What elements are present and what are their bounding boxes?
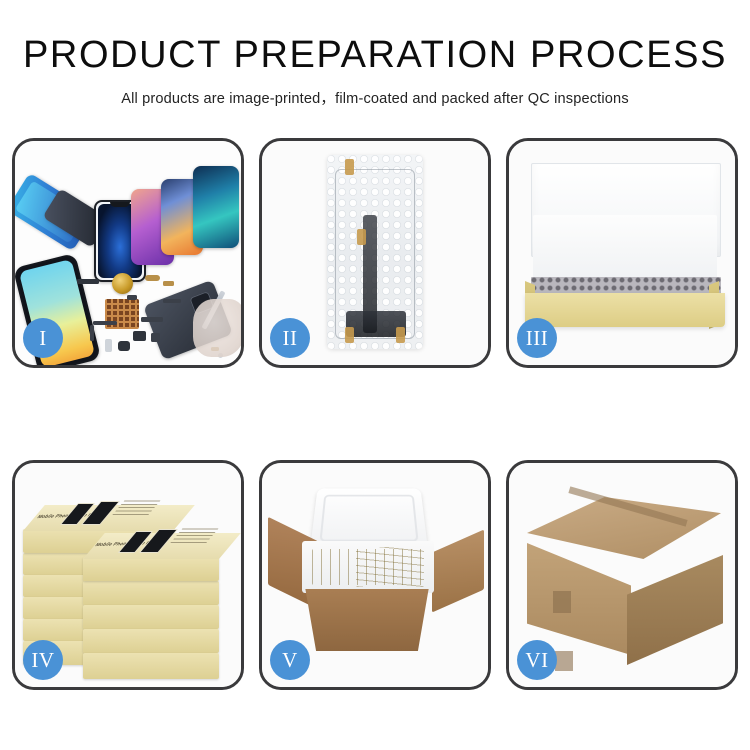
hand-icon (193, 299, 241, 357)
page-title: PRODUCT PREPARATION PROCESS (0, 36, 750, 76)
page-header: PRODUCT PREPARATION PROCESS All products… (0, 0, 750, 108)
process-step-6[interactable]: VI (506, 460, 738, 690)
tape-mark-1-icon (345, 159, 354, 175)
tape-mark-2-icon (357, 229, 366, 245)
part-flex-cable-2-icon (90, 325, 94, 341)
foam-sheet-icon (533, 215, 717, 281)
part-flex-cable-icon (93, 321, 117, 325)
bubble-bag-icon (327, 155, 423, 349)
carton-left-face-icon (527, 543, 631, 655)
stacked-box-icon (83, 581, 219, 605)
process-step-grid: I II III (12, 138, 738, 690)
part-small-chip-icon (127, 295, 137, 300)
carton-front-icon (300, 589, 434, 651)
stacked-box-icon (83, 605, 219, 629)
part-antenna-icon (163, 299, 181, 303)
step-badge-1: I (23, 318, 63, 358)
step-badge-2: II (270, 318, 310, 358)
tape-mark-4-icon (396, 327, 405, 343)
part-module-icon (151, 333, 160, 342)
part-ribbon-icon (141, 317, 163, 322)
carton-tape-bottom-icon (555, 651, 573, 671)
stacked-box-icon (83, 629, 219, 653)
process-step-1[interactable]: I (12, 138, 244, 368)
step-badge-4: IV (23, 640, 63, 680)
step-badge-5: V (270, 640, 310, 680)
phone-teal-icon (193, 166, 239, 248)
process-step-3[interactable]: III (506, 138, 738, 368)
process-step-2[interactable]: II (259, 138, 491, 368)
tape-mark-3-icon (345, 327, 354, 343)
carton-tape-top-icon (553, 591, 571, 613)
notch-icon (110, 202, 130, 207)
process-step-5[interactable]: V (259, 460, 491, 690)
speaker-coil-icon (112, 273, 133, 294)
part-connector-icon (77, 279, 99, 284)
carton-right-face-icon (627, 555, 723, 665)
stacked-box-icon (83, 653, 219, 679)
page-subtitle: All products are image-printed，film-coat… (0, 87, 750, 108)
part-gold-clip-icon (145, 275, 160, 281)
part-ic-icon (133, 331, 146, 341)
step-badge-6: VI (517, 640, 557, 680)
carton-flap-right-icon (432, 529, 484, 612)
part-battery-icon (105, 339, 112, 352)
top-box-b-icon (83, 557, 219, 581)
box-base-icon (525, 293, 725, 327)
part-gold-pin-icon (163, 281, 174, 286)
packed-boxes-2-icon (356, 547, 424, 587)
step-badge-3: III (517, 318, 557, 358)
part-buzzer-icon (118, 341, 130, 351)
process-step-4[interactable]: Mobile Phone Spare Parts Mobile Phone Sp… (12, 460, 244, 690)
